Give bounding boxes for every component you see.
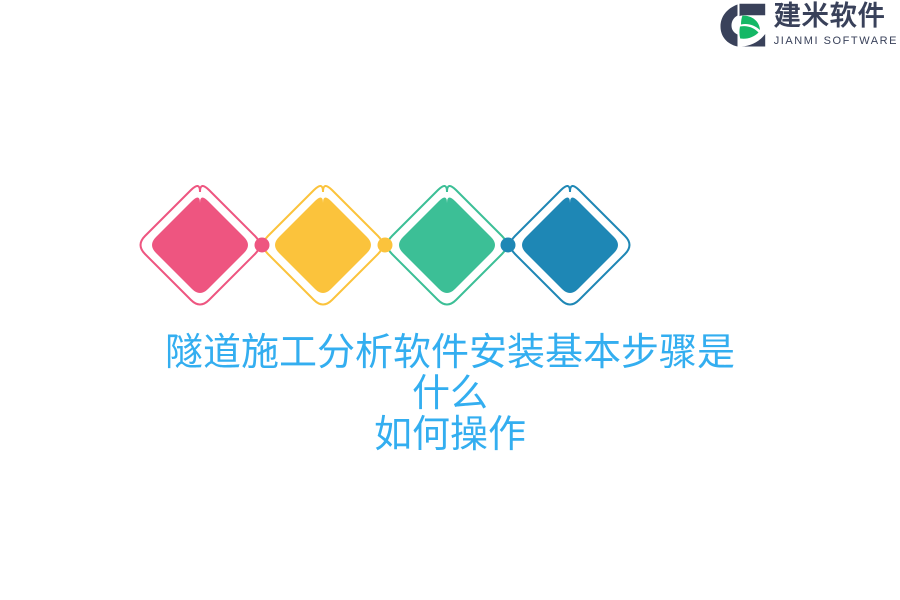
connector-dot-1 <box>255 238 270 253</box>
jianmi-logo-icon <box>720 3 766 47</box>
brand-name-en: JIANMI SOFTWARE <box>774 36 898 47</box>
brand-text-block: 建米软件 JIANMI SOFTWARE <box>774 3 898 47</box>
brand-name-cn: 建米软件 <box>774 3 886 31</box>
diamond-step-4 <box>511 186 630 305</box>
slide-canvas: 建米软件 JIANMI SOFTWARE <box>0 0 900 600</box>
connector-dot-2 <box>378 238 393 253</box>
diamond-step-1 <box>141 186 260 305</box>
diamond-chain-svg <box>0 180 900 310</box>
page-title-line-2: 如何操作 <box>150 414 750 455</box>
diamond-step-3 <box>388 186 507 305</box>
page-title: 隧道施工分析软件安装基本步骤是什么 如何操作 <box>0 332 900 455</box>
diamond-chain-graphic <box>0 180 900 310</box>
page-title-line-1: 隧道施工分析软件安装基本步骤是什么 <box>150 332 750 414</box>
connector-dot-3 <box>501 238 516 253</box>
diamond-step-2 <box>264 186 383 305</box>
brand-logo[interactable]: 建米软件 JIANMI SOFTWARE <box>720 0 898 50</box>
